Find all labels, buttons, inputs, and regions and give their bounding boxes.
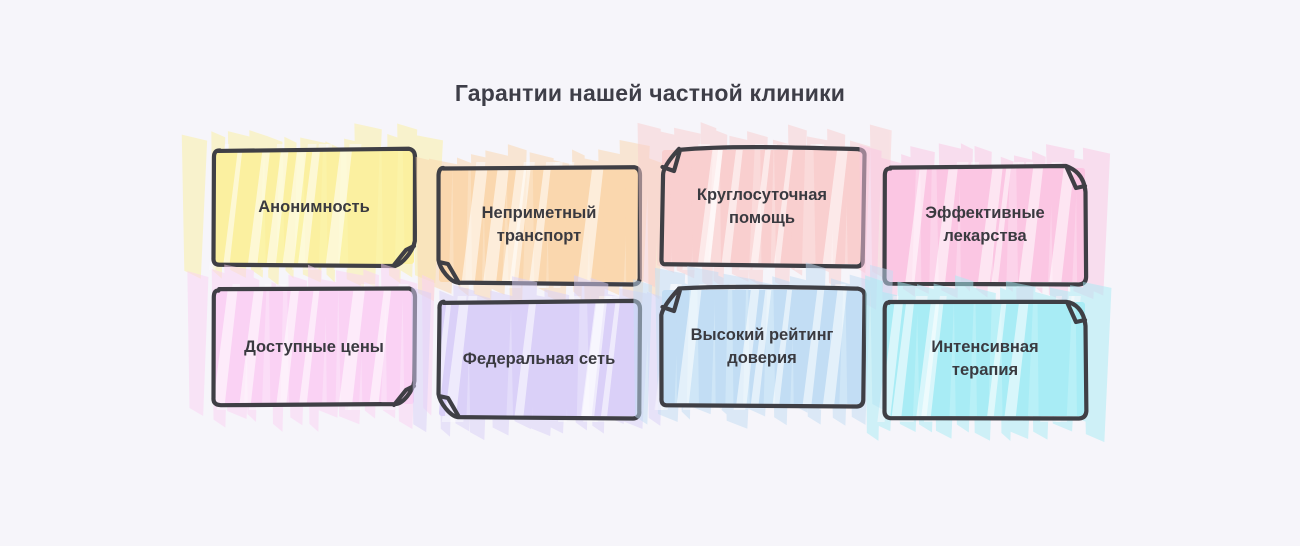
card-shape <box>883 300 1087 418</box>
guarantee-card[interactable]: Круглосуточная помощь <box>660 148 864 266</box>
card-shape <box>660 148 864 266</box>
page-title: Гарантии нашей частной клиники <box>0 80 1300 107</box>
guarantee-card[interactable]: Высокий рейтинг доверия <box>660 288 864 406</box>
guarantee-card[interactable]: Федеральная сеть <box>437 300 641 418</box>
guarantee-card[interactable]: Интенсивная терапия <box>883 300 1087 418</box>
card-shape <box>437 166 641 284</box>
card-shape <box>212 148 416 266</box>
card-shape <box>660 288 864 406</box>
guarantee-card[interactable]: Анонимность <box>212 148 416 266</box>
guarantee-card[interactable]: Доступные цены <box>212 288 416 406</box>
card-shape <box>212 288 416 406</box>
card-shape <box>437 300 641 418</box>
card-shape <box>883 166 1087 284</box>
guarantee-card[interactable]: Неприметный транспорт <box>437 166 641 284</box>
infographic-root: Гарантии нашей частной клиники Анонимнос… <box>0 0 1300 546</box>
guarantee-card[interactable]: Эффективные лекарства <box>883 166 1087 284</box>
